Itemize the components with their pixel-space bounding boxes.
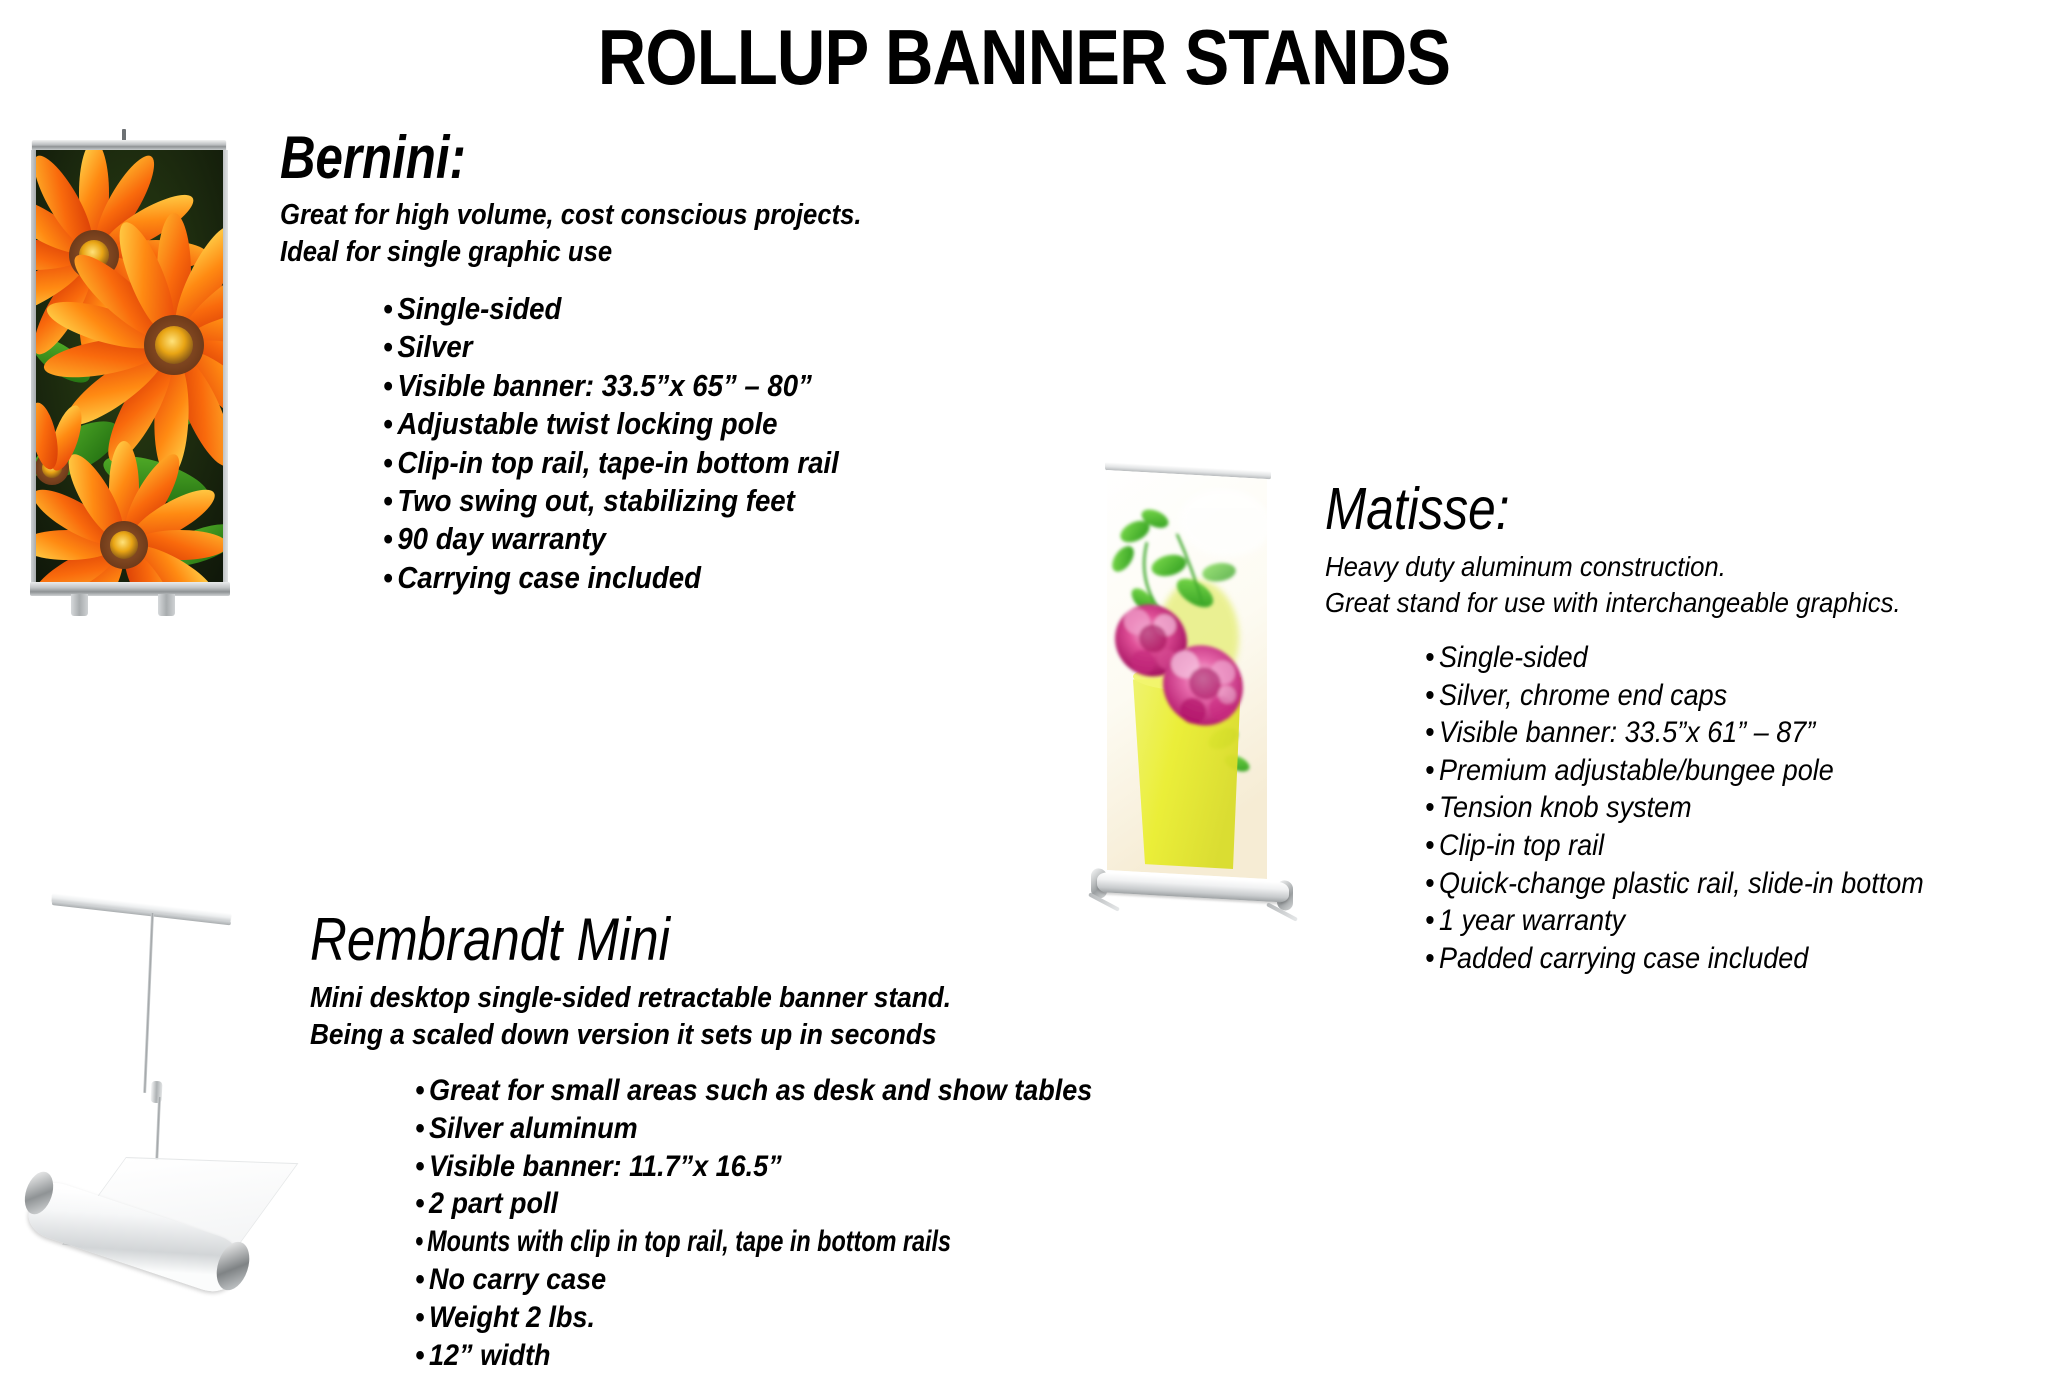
bernini-heading: Bernini: — [280, 128, 810, 188]
bullet-icon: • — [1425, 827, 1439, 865]
product-block-matisse: Matisse: Heavy duty aluminum constructio… — [1325, 480, 1979, 977]
bullet-icon: • — [1425, 714, 1439, 752]
bullet-icon: • — [1425, 752, 1439, 790]
product-block-rembrandt-mini: Rembrandt Mini Mini desktop single-sided… — [310, 910, 1168, 1374]
feature-text: Mounts with clip in top rail, tape in bo… — [427, 1223, 951, 1261]
bernini-base-rail — [30, 582, 230, 596]
list-item: •Premium adjustable/bungee pole — [1425, 752, 1924, 790]
bullet-icon: • — [383, 482, 397, 520]
matisse-graphic-artwork — [1107, 470, 1267, 879]
page-title: ROLLUP BANNER STANDS — [143, 18, 1904, 96]
list-item: •1 year warranty — [1425, 902, 1924, 940]
list-item: •Carrying case included — [383, 559, 866, 597]
bernini-feature-list: •Single-sided •Silver •Visible banner: 3… — [383, 290, 926, 597]
feature-text: Visible banner: 33.5”x 65” – 80” — [397, 367, 812, 405]
bullet-icon: • — [383, 444, 397, 482]
rembrandt-mini-intro: Mini desktop single-sided retractable ba… — [310, 980, 1168, 1054]
list-item: •2 part poll — [415, 1185, 1092, 1223]
rembrandt-mini-stand-image — [20, 875, 280, 1345]
list-item: •Quick-change plastic rail, slide-in bot… — [1425, 865, 1924, 903]
bernini-graphic-artwork — [36, 150, 223, 587]
feature-text: Padded carrying case included — [1439, 940, 1808, 978]
feature-text: Premium adjustable/bungee pole — [1439, 752, 1834, 790]
feature-text: 12” width — [429, 1337, 551, 1374]
bullet-icon: • — [383, 367, 397, 405]
bullet-icon: • — [383, 328, 397, 366]
feature-text: Single-sided — [397, 290, 561, 328]
list-item: •Clip-in top rail, tape-in bottom rail — [383, 444, 866, 482]
list-item: •Silver, chrome end caps — [1425, 677, 1924, 715]
bullet-icon: • — [415, 1110, 429, 1148]
bullet-icon: • — [415, 1261, 429, 1299]
list-item: •Silver — [383, 328, 866, 366]
matisse-banner-stand-image — [1085, 448, 1305, 938]
bernini-stabilizing-foot-left — [71, 594, 88, 616]
bernini-intro-line-2: Ideal for single graphic use — [280, 234, 862, 271]
bullet-icon: • — [415, 1072, 429, 1110]
bullet-icon: • — [415, 1299, 429, 1337]
matisse-intro-line-2: Great stand for use with interchangeable… — [1325, 585, 1927, 621]
poster-canvas: ROLLUP BANNER STANDS — [0, 0, 2048, 1371]
list-item: • Weight 2 lbs. — [415, 1299, 1092, 1337]
feature-text: 1 year warranty — [1439, 902, 1625, 940]
list-item: •Adjustable twist locking pole — [383, 405, 866, 443]
rembrandt-upper-pole — [143, 913, 154, 1093]
list-item: •Two swing out, stabilizing feet — [383, 482, 866, 520]
feature-text: Carrying case included — [397, 559, 701, 597]
list-item: •Clip-in top rail — [1425, 827, 1924, 865]
feature-text: Visible banner: 11.7”x 16.5” — [429, 1148, 782, 1186]
bullet-icon: • — [1425, 639, 1439, 677]
feature-text: Single-sided — [1439, 639, 1588, 677]
feature-text: 2 part poll — [429, 1185, 558, 1223]
bullet-icon: • — [1425, 865, 1439, 903]
feature-text: Clip-in top rail, tape-in bottom rail — [397, 444, 838, 482]
feature-text: Adjustable twist locking pole — [397, 405, 777, 443]
product-block-bernini: Bernini: Great for high volume, cost con… — [280, 128, 926, 597]
bullet-icon: • — [383, 559, 397, 597]
bullet-icon: • — [1425, 677, 1439, 715]
feature-text: Weight 2 lbs. — [429, 1299, 595, 1337]
rembrandt-mini-heading: Rembrandt Mini — [310, 910, 1039, 970]
feature-text: Quick-change plastic rail, slide-in bott… — [1439, 865, 1924, 903]
feature-text: Silver — [397, 328, 472, 366]
bullet-icon: • — [383, 405, 397, 443]
feature-text: Tension knob system — [1439, 789, 1692, 827]
bullet-icon: • — [383, 520, 397, 558]
bullet-icon: • — [1425, 902, 1439, 940]
list-item: •Mounts with clip in top rail, tape in b… — [415, 1223, 1002, 1261]
matisse-feature-list: •Single-sided •Silver, chrome end caps •… — [1425, 639, 1979, 977]
list-item: •Visible banner: 11.7”x 16.5” — [415, 1148, 1092, 1186]
feature-text: Visible banner: 33.5”x 61” – 87” — [1439, 714, 1815, 752]
list-item: •Visible banner: 33.5”x 61” – 87” — [1425, 714, 1924, 752]
rembrandt-mini-feature-list: •Great for small areas such as desk and … — [415, 1072, 1168, 1374]
feature-text: Silver, chrome end caps — [1439, 677, 1727, 715]
list-item: •12” width — [415, 1337, 1092, 1374]
matisse-intro-line-1: Heavy duty aluminum construction. — [1325, 549, 1927, 585]
list-item: •Visible banner: 33.5”x 65” – 80” — [383, 367, 866, 405]
feature-text: 90 day warranty — [397, 520, 606, 558]
list-item: •Single-sided — [1425, 639, 1924, 677]
bullet-icon: • — [1425, 940, 1439, 978]
feature-text: No carry case — [429, 1261, 606, 1299]
list-item: •Tension knob system — [1425, 789, 1924, 827]
list-item: •No carry case — [415, 1261, 1092, 1299]
feature-text: Clip-in top rail — [1439, 827, 1604, 865]
feature-text: Silver aluminum — [429, 1110, 638, 1148]
matisse-intro: Heavy duty aluminum construction. Great … — [1325, 549, 1979, 621]
bernini-intro: Great for high volume, cost conscious pr… — [280, 197, 926, 271]
pink-carnations-illustration — [1107, 470, 1267, 879]
list-item: •Silver aluminum — [415, 1110, 1092, 1148]
feature-text: Two swing out, stabilizing feet — [397, 482, 794, 520]
rembrandt-mini-intro-line-2: Being a scaled down version it sets up i… — [310, 1017, 1099, 1054]
bernini-banner-stand-image — [18, 120, 258, 620]
bullet-icon: • — [1425, 789, 1439, 827]
orange-flowers-illustration — [36, 150, 223, 587]
bullet-icon: • — [383, 290, 397, 328]
bullet-icon: • — [415, 1223, 427, 1261]
list-item: •Great for small areas such as desk and … — [415, 1072, 1092, 1110]
bernini-intro-line-1: Great for high volume, cost conscious pr… — [280, 197, 862, 234]
list-item: •Padded carrying case included — [1425, 940, 1924, 978]
feature-text: Great for small areas such as desk and s… — [429, 1072, 1092, 1110]
bullet-icon: • — [415, 1337, 429, 1374]
list-item: •Single-sided — [383, 290, 866, 328]
matisse-heading: Matisse: — [1325, 480, 1875, 539]
bullet-icon: • — [415, 1148, 429, 1186]
bullet-icon: • — [415, 1185, 429, 1223]
list-item: •90 day warranty — [383, 520, 866, 558]
rembrandt-mini-intro-line-1: Mini desktop single-sided retractable ba… — [310, 980, 1099, 1017]
bernini-stabilizing-foot-right — [158, 594, 175, 616]
